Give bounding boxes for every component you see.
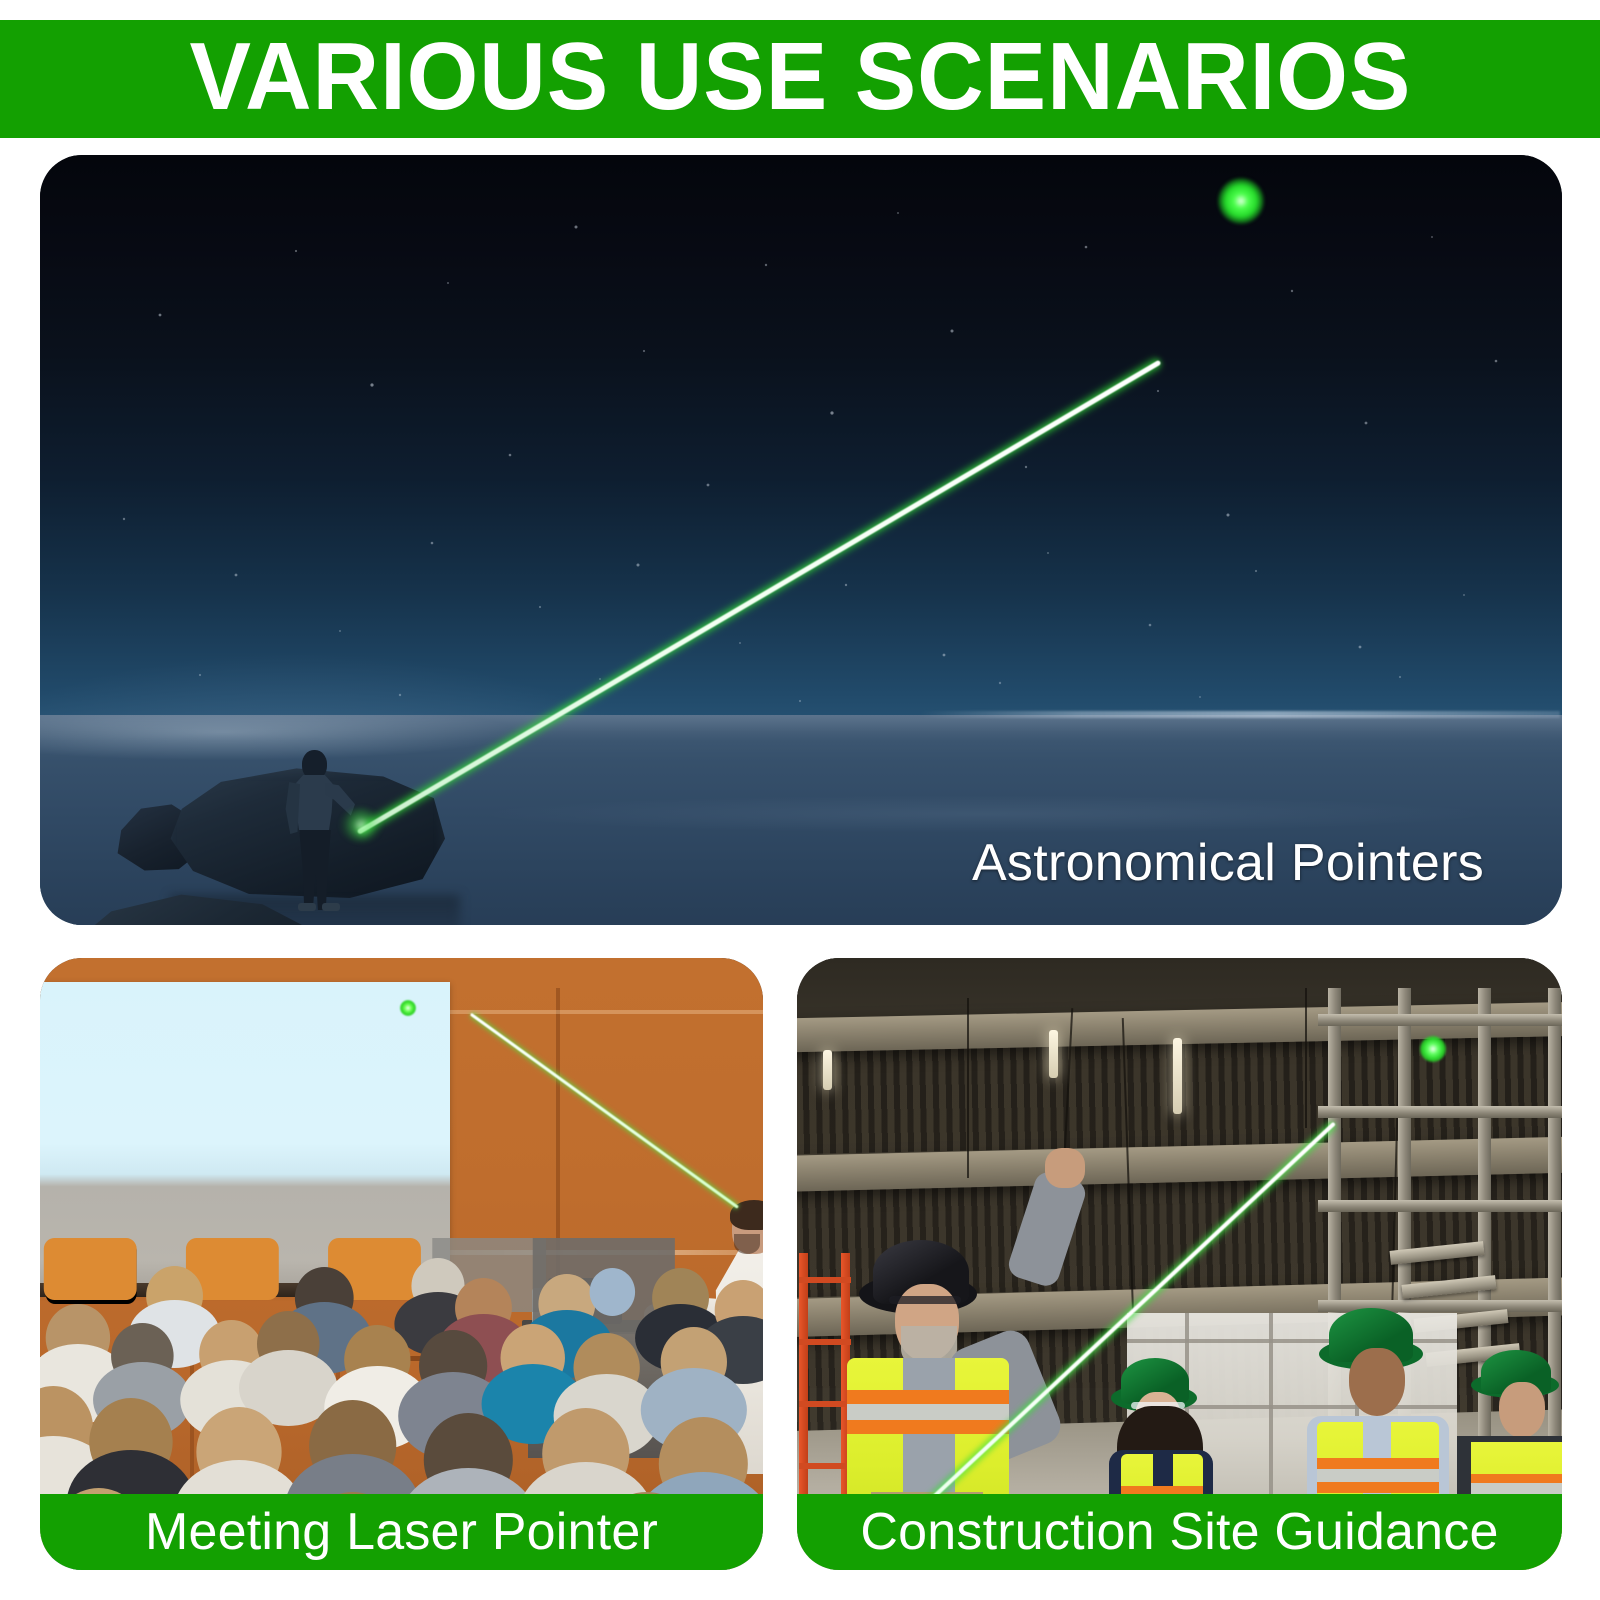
caption-label: Meeting Laser Pointer [145,1502,658,1562]
person-right-shoe [322,903,340,911]
laser-muzzle-flare [340,807,382,843]
scenario-panel-astronomical: Astronomical Pointers [40,155,1562,925]
vest-stripe-silver [1317,1469,1439,1482]
vest-stripe-silver [847,1404,1009,1420]
person-head [302,750,327,779]
vest-stripe-orange [847,1420,1009,1434]
caption-label: Construction Site Guidance [860,1502,1498,1562]
hanging-light [1173,1038,1182,1114]
scaffold-rail [1318,1200,1562,1212]
worker-face [1499,1382,1545,1438]
vest-stripe-orange [1471,1474,1562,1483]
person-legs [297,830,333,910]
scenario-panel-meeting [40,958,763,1570]
person-left-arm [282,782,300,834]
page-title: VARIOUS USE SCENARIOS [189,29,1411,125]
caption-construction-site-guidance: Construction Site Guidance [797,1494,1562,1570]
hero-caption-label: Astronomical Pointers [972,833,1484,893]
scaffold-rail [1318,1106,1562,1118]
safety-glasses [889,1296,961,1304]
laser-target-dot [400,1000,416,1016]
laser-target-dot [1218,178,1264,224]
hanging-light [1049,1030,1058,1078]
vest-stripe-orange [847,1390,1009,1404]
distant-shoreline [920,711,1560,718]
hanging-wire [967,998,969,1178]
worker-face [1349,1348,1405,1416]
vest-stripe-orange [1317,1458,1439,1469]
caption-meeting-laser-pointer: Meeting Laser Pointer [40,1494,763,1570]
hanging-light [823,1050,832,1090]
night-sky-scene: Astronomical Pointers [40,155,1562,925]
person-silhouette [280,750,350,910]
scenario-panel-construction [797,958,1562,1570]
construction-site-scene [797,958,1562,1570]
worker-raised-hand [1045,1148,1085,1188]
laser-target-dot [1420,1036,1446,1062]
header-banner: VARIOUS USE SCENARIOS [0,20,1600,138]
person-left-shoe [298,903,316,911]
meeting-room-scene [40,958,763,1570]
vest-stripe-orange [1317,1482,1439,1493]
vest-stripe-silver [1471,1483,1562,1494]
scaffold-rail [1318,1014,1562,1026]
